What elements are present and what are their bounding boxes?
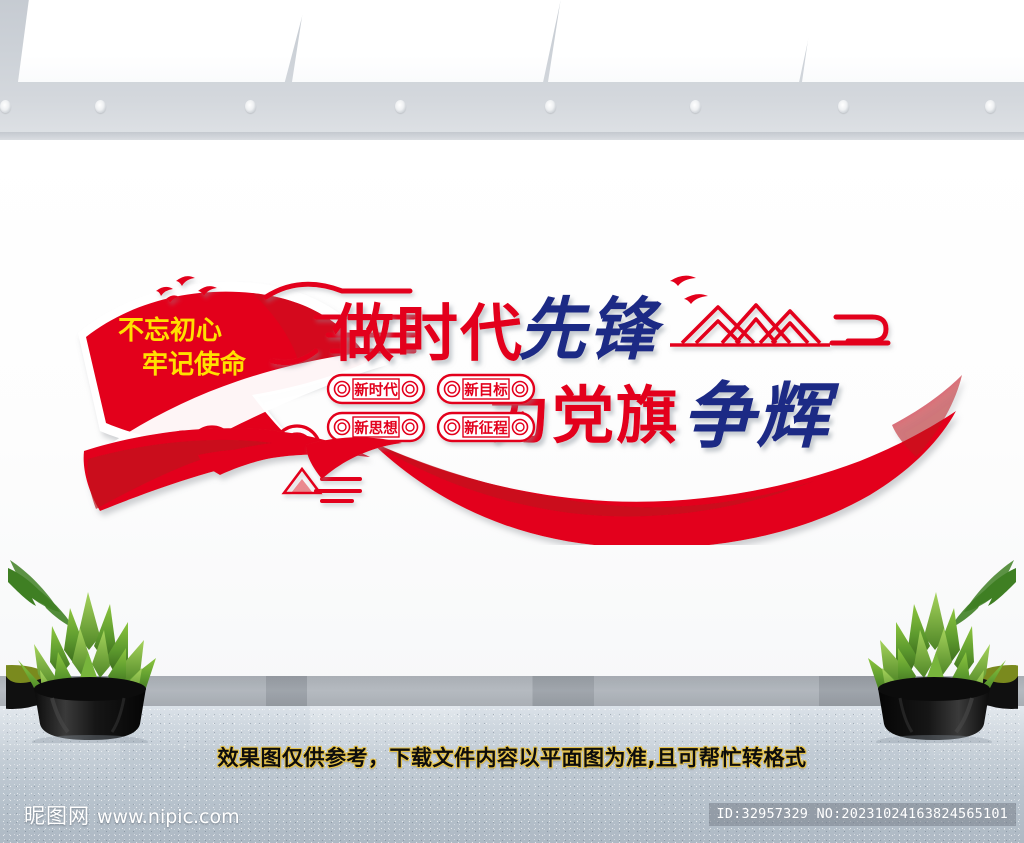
birds-small-icon	[670, 276, 708, 304]
svg-text:新目标: 新目标	[464, 381, 508, 399]
ceiling-light-panel	[292, 0, 562, 82]
ceiling-downlight-icon	[395, 100, 406, 113]
watermark-brand: 昵图网	[24, 800, 90, 830]
badge-stamp: 新征程	[438, 413, 534, 441]
badge-stamp: 新思想	[328, 413, 424, 441]
wall-culture-artwork: 不忘初心 牢记使命	[70, 255, 970, 545]
ceiling-downlight-icon	[985, 100, 996, 113]
succulent-planter-right	[853, 558, 1018, 748]
badge-stamp: 新目标	[438, 375, 534, 403]
ceiling-downlight-icon	[95, 100, 106, 113]
svg-text:新思想: 新思想	[354, 419, 398, 437]
svg-text:先锋: 先锋	[518, 290, 665, 370]
svg-text:新征程: 新征程	[464, 419, 508, 437]
fern-frond	[8, 560, 74, 628]
ceiling-downlight-icon	[245, 100, 256, 113]
svg-text:不忘初心: 不忘初心	[118, 315, 222, 346]
watermark-url: www.nipic.com	[97, 806, 240, 828]
succulent-planter-left	[6, 558, 171, 748]
plant-pot	[878, 677, 990, 740]
cloud-scroll-icon	[832, 317, 888, 343]
ceiling-light-panel	[802, 0, 1024, 82]
fern-frond	[950, 560, 1016, 628]
scene-root: 不忘初心 牢记使命	[0, 0, 1024, 843]
site-watermark: 昵图网 www.nipic.com	[24, 800, 240, 830]
svg-text:做时代: 做时代	[331, 297, 524, 370]
ceiling-downlight-icon	[545, 100, 556, 113]
plant-pot	[34, 677, 146, 740]
disclaimer-caption: 效果图仅供参考，下载文件内容以平面图为准,且可帮忙转格式	[0, 742, 1024, 772]
floor-tile-band	[310, 706, 460, 843]
ceiling-light-panel	[18, 0, 308, 82]
mountain-lineart-icon	[670, 305, 830, 345]
watermark-id-label: ID:32957329 NO:20231024163824565101	[709, 803, 1016, 826]
ceiling	[0, 0, 1024, 140]
ceiling-downlight-icon	[690, 100, 701, 113]
red-ribbon-mid	[306, 437, 402, 479]
svg-text:争辉: 争辉	[682, 373, 840, 458]
badge-stamp: 新时代	[328, 375, 424, 403]
svg-text:牢记使命: 牢记使命	[142, 349, 247, 380]
ceiling-downlight-icon	[838, 100, 849, 113]
svg-text:新时代: 新时代	[354, 381, 398, 399]
ceiling-light-panel	[548, 0, 818, 82]
